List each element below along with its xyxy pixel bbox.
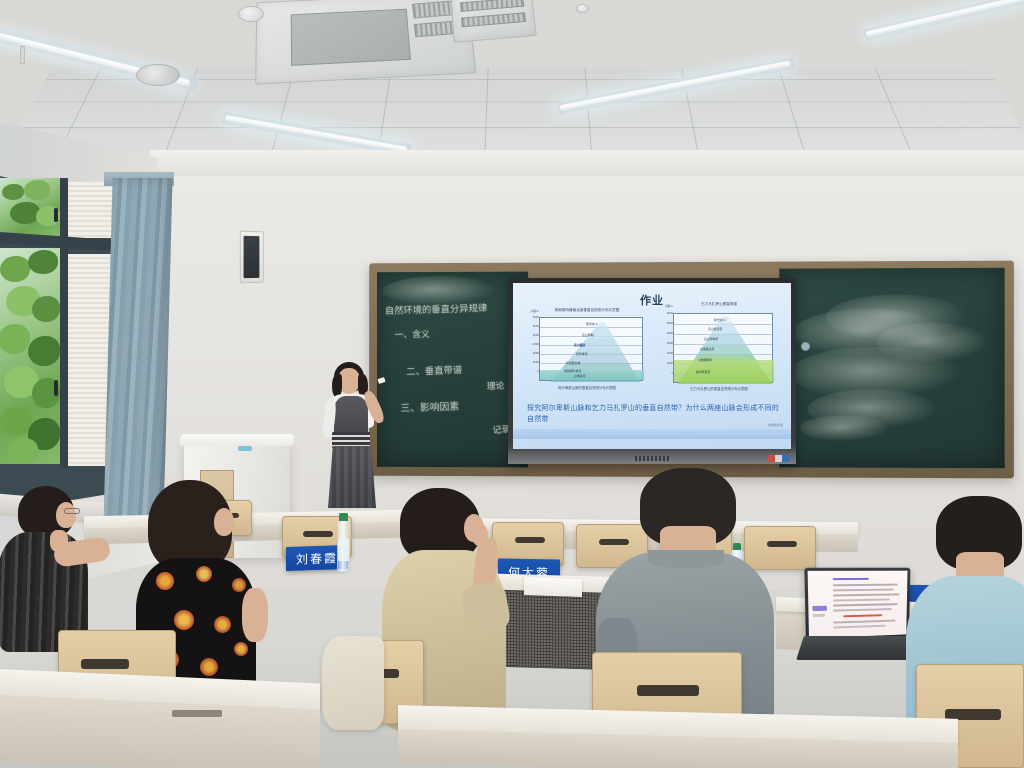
left-figure-plot: 6000 5000 4000 3000 2000 1000 0 海拔/m 积雪冰…	[539, 317, 643, 381]
classroom-scene: 自然环境的垂直分异规律 一、含义 二、垂直带谱 三、影响因素 理论 记录 作业 …	[0, 0, 1024, 768]
blackboard-line-3: 二、垂直带谱	[406, 362, 462, 378]
interactive-flat-panel[interactable]: 作业 珠穆朗玛峰南北坡垂直自然带分布示意图 6000 5000 4000 300…	[508, 278, 796, 464]
ceiling-light-tube-4	[866, 0, 1024, 38]
wall-speaker-grille	[244, 236, 260, 278]
display-screen[interactable]: 作业 珠穆朗玛峰南北坡垂直自然带分布示意图 6000 5000 4000 300…	[513, 283, 791, 449]
window-handle-icon	[54, 208, 58, 222]
ceiling-speaker	[136, 64, 180, 86]
left-figure-top-caption: 珠穆朗玛峰南北坡垂直自然带分布示意图	[527, 308, 647, 313]
smoke-detector-icon	[238, 6, 264, 22]
presenter-waistband	[332, 432, 370, 448]
left-band-5: 常绿阔叶林带	[564, 369, 581, 373]
nameplate-1-text: 刘春霞	[296, 549, 338, 567]
desk-paper-notebook[interactable]	[524, 577, 582, 597]
laptop[interactable]	[804, 568, 910, 642]
left-band-base: 山地基带	[574, 374, 586, 378]
right-figure-y-axis-label: 海拔/m	[665, 304, 673, 308]
display-sensor-strip	[635, 456, 669, 461]
right-band-4: 山地雨林带	[698, 358, 712, 362]
chair-handle-slot	[637, 685, 699, 696]
wall-speaker-bracket	[20, 46, 25, 64]
blackboard-line-2: 一、含义	[394, 327, 429, 341]
slide-footer: 地理教研组	[768, 423, 783, 427]
laptop-base[interactable]	[796, 636, 920, 660]
chair-handle-slot	[81, 659, 129, 669]
blackboard-right-panel	[779, 268, 1004, 468]
right-band-0: 积雪冰川	[714, 318, 726, 322]
window-handle-lower-icon	[54, 380, 58, 396]
display-ir-sensor-icon	[801, 342, 810, 351]
right-figure-savanna-layer	[674, 360, 774, 382]
window-mullion-vertical	[60, 178, 68, 468]
wall-upper-strip	[150, 150, 1024, 176]
display-bottom-bezel	[508, 451, 796, 464]
blackboard-line-1: 自然环境的垂直分异规律	[385, 300, 488, 317]
left-figure-base-layer	[540, 370, 644, 380]
blackboard-left-panel: 自然环境的垂直分异规律 一、含义 二、垂直带谱 三、影响因素 理论 记录	[377, 272, 528, 468]
presenter-chalk	[377, 377, 385, 384]
chair-handle-slot	[303, 531, 333, 537]
laptop-text-highlight-1	[833, 578, 869, 580]
slide-figure-right: 乞力马扎罗山垂直带谱 6000 5000 4000 3000 2000 1000…	[659, 303, 779, 395]
lectern-control-panel[interactable]	[238, 446, 252, 451]
observer-1-head	[56, 502, 76, 528]
blackboard-line-4: 三、影响因素	[400, 398, 459, 415]
window-pane-upper-left	[0, 178, 62, 236]
blackboard-scribble-right: 理论	[486, 378, 504, 392]
slide-figure-left: 珠穆朗玛峰南北坡垂直自然带分布示意图 6000 5000 4000 3000 2…	[527, 309, 647, 395]
bottle-label	[338, 539, 349, 561]
left-band-3: 针叶林带	[576, 352, 588, 356]
observer-1-hand	[50, 530, 68, 552]
water-bottle-1	[337, 520, 350, 572]
left-band-2: 高山灌丛	[574, 343, 586, 347]
bottle-cap-1	[339, 513, 348, 521]
ceiling-ac-unit-secondary	[451, 0, 537, 43]
left-band-0: 积雪冰川	[586, 322, 598, 326]
sprinkler-head-icon	[576, 4, 589, 13]
window-curtain	[103, 178, 172, 528]
right-band-2: 高山草甸带	[704, 337, 718, 341]
observer-2-arm	[242, 588, 268, 642]
presenter-skirt	[328, 446, 376, 508]
draped-jacket	[322, 636, 384, 730]
observer-3-hand	[472, 524, 488, 546]
laptop-text-highlight-2	[843, 614, 882, 617]
right-band-3: 山地灌丛带	[700, 347, 714, 351]
right-figure-top-caption: 乞力马扎罗山垂直带谱	[659, 302, 779, 307]
slide-question-text: 探究阿尔卑斯山脉和乞力马扎罗山的垂直自然带？为什么两座山脉会形成不同的自然带	[527, 403, 779, 425]
window-pane-lower-left	[0, 248, 62, 464]
laptop-screen[interactable]	[808, 571, 908, 639]
display-brand-logo	[768, 455, 790, 462]
right-band-5: 热带草原带	[696, 370, 710, 374]
observer-2-head	[214, 508, 234, 536]
wall-speaker	[240, 231, 264, 284]
observer-4-collar	[648, 550, 724, 568]
observer-3-sleeve	[460, 581, 512, 636]
left-band-1: 高山草甸	[582, 333, 594, 337]
ceiling-ac-unit	[255, 0, 477, 85]
laptop-sidebar-block	[812, 606, 826, 611]
slide-bottom-band	[513, 429, 791, 439]
observer-1-glasses-icon	[64, 508, 80, 514]
left-band-4: 针阔混交林	[566, 361, 580, 365]
desk-foreground-left-slot	[172, 710, 222, 717]
window-blind	[66, 182, 114, 238]
right-figure-caption: 乞力马扎罗山的垂直自然带分布示意图	[659, 386, 779, 391]
left-figure-y-axis-label: 海拔/m	[531, 309, 539, 313]
right-figure-plot: 6000 5000 4000 3000 2000 1000 0 海拔/m 积雪冰…	[673, 313, 773, 383]
lectern-top-surface	[179, 434, 294, 446]
right-band-1: 高山寒漠带	[708, 327, 722, 331]
left-figure-caption: 阿尔卑斯山脉的垂直自然带分布示意图	[527, 385, 647, 390]
